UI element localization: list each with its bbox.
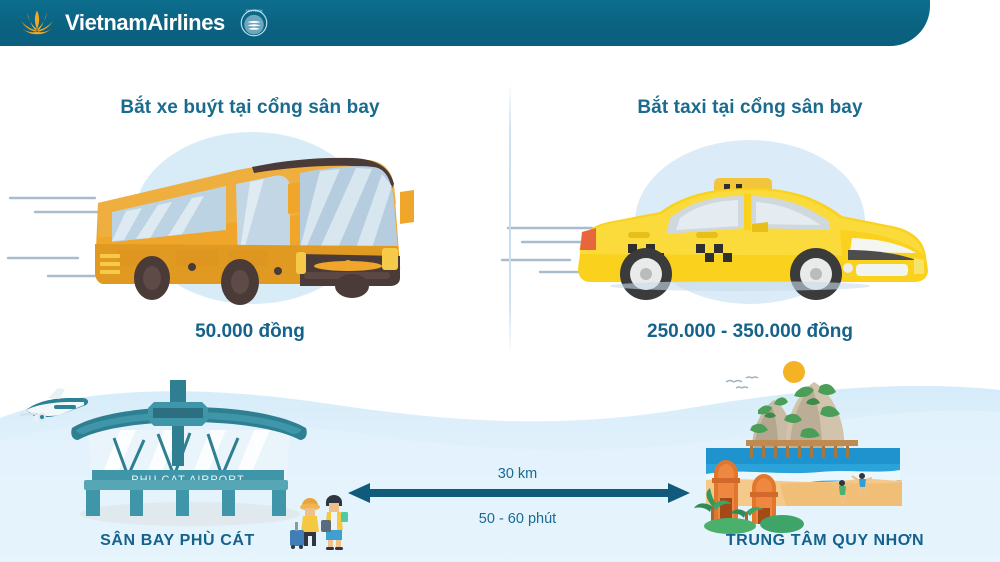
infographic-root: VietnamAirlines SKYTEAM Bắt xe buýt tại … bbox=[0, 0, 1000, 562]
origin-label: SÂN BAY PHÙ CÁT bbox=[55, 532, 300, 550]
brand-name: VietnamAirlines bbox=[65, 10, 225, 36]
page-header: VietnamAirlines SKYTEAM bbox=[0, 0, 930, 46]
option-title-taxi: Bắt taxi tại cổng sân bay bbox=[500, 97, 1000, 119]
beach-city-icon bbox=[690, 356, 990, 538]
route-duration: 50 - 60 phút bbox=[335, 511, 700, 527]
option-price-bus: 50.000 đồng bbox=[0, 321, 500, 343]
svg-text:SKYTEAM: SKYTEAM bbox=[245, 9, 262, 13]
lotus-icon bbox=[18, 8, 56, 38]
option-title-bus: Bắt xe buýt tại cổng sân bay bbox=[0, 97, 500, 119]
option-panel-bus: Bắt xe buýt tại cổng sân bay bbox=[0, 46, 500, 356]
route-distance-block: 30 km 50 - 60 phút bbox=[335, 466, 700, 536]
bus-icon bbox=[0, 126, 500, 316]
destination-label: TRUNG TÂM QUY NHƠN bbox=[680, 532, 970, 550]
option-price-taxi: 250.000 - 350.000 đồng bbox=[500, 321, 1000, 343]
option-panel-taxi: Bắt taxi tại cổng sân bay bbox=[500, 46, 1000, 356]
route-distance: 30 km bbox=[335, 466, 700, 482]
panel-divider bbox=[509, 82, 511, 354]
airport-terminal-icon: PHU CAT AIRPORT bbox=[58, 372, 318, 542]
brand-logo: VietnamAirlines SKYTEAM bbox=[18, 6, 271, 40]
taxi-icon bbox=[500, 126, 1000, 316]
skyteam-icon: SKYTEAM bbox=[237, 6, 271, 40]
